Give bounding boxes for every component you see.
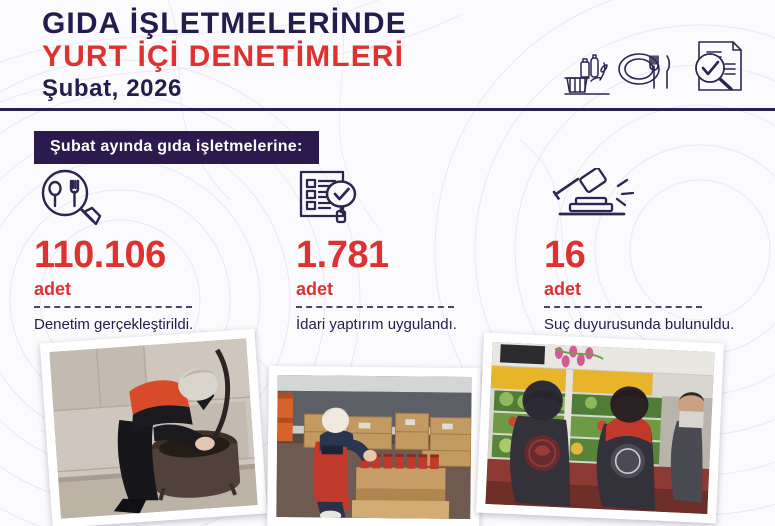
photo-inspectors-greengrocer bbox=[476, 333, 724, 524]
photo-inspector-barrel bbox=[40, 329, 267, 526]
photo-image bbox=[49, 338, 257, 518]
infographic-page: GIDA İŞLETMELERİNDE YURT İÇİ DENETİMLERİ… bbox=[0, 0, 775, 526]
photo-gallery bbox=[0, 0, 775, 526]
photo-image bbox=[485, 342, 714, 514]
photo-inspector-warehouse-jars bbox=[267, 366, 481, 526]
photo-image bbox=[276, 375, 471, 519]
